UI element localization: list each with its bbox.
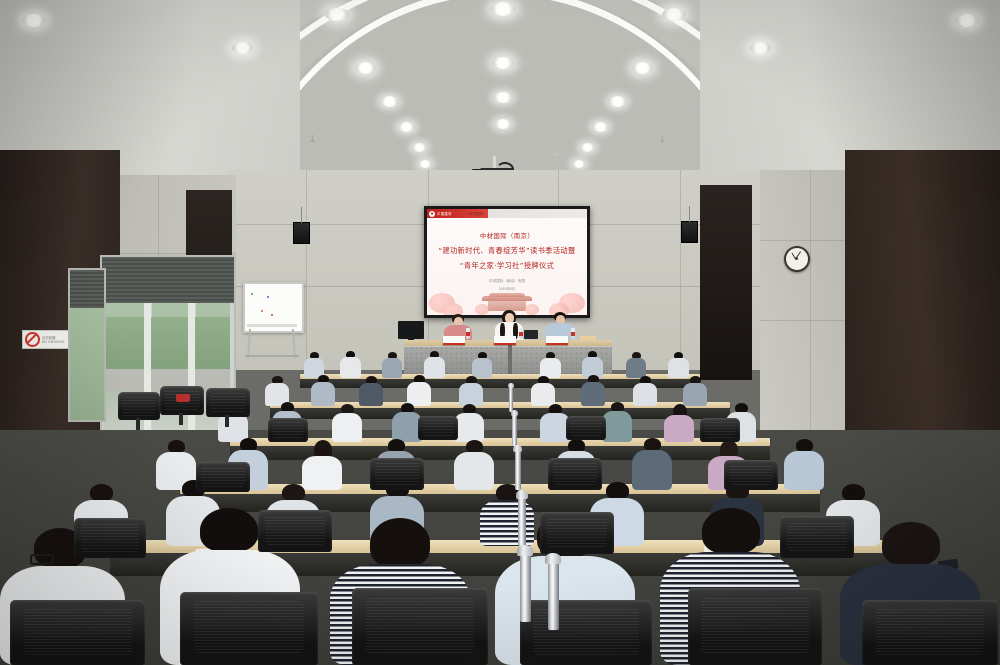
spare-chair-1[interactable] <box>118 392 160 428</box>
chair-row-3-d[interactable] <box>700 418 740 442</box>
chair-row-5-c[interactable] <box>258 510 332 552</box>
conference-room-photo: EPSON 请勿吸烟 NO SMOKING <box>0 0 1000 665</box>
chair-row-3-c[interactable] <box>566 416 606 440</box>
spare-chair-3[interactable] <box>206 388 250 426</box>
no-smoking-sub: NO SMOKING <box>42 340 65 344</box>
red-object-on-chair <box>176 394 190 402</box>
water-bottle <box>571 328 575 339</box>
smoke-detector-icon <box>552 152 559 156</box>
slide-organization: 中材国际（南京） <box>427 231 587 240</box>
chair-row-4-c[interactable] <box>548 458 602 490</box>
name-placard <box>494 336 516 345</box>
chair-front-2[interactable] <box>180 592 318 665</box>
chair-row-5-a[interactable] <box>74 518 146 558</box>
whiteboard[interactable] <box>243 282 304 333</box>
stanchion-top-5 <box>517 545 533 556</box>
spare-chair-2[interactable] <box>160 386 204 424</box>
wall-speaker-right <box>681 221 698 243</box>
brand-logo-icon: ✹ <box>429 211 435 217</box>
laptop <box>524 330 538 339</box>
no-smoking-icon <box>25 332 40 347</box>
chair-row-4-d[interactable] <box>724 460 778 490</box>
slide-content: ✹ 中国建材 中材国际 中材国际（南京） “建功新时代、青春绽芳华”读书季活动暨… <box>427 209 587 315</box>
banner-right-text: 中材国际 <box>469 211 484 216</box>
chair-row-4-a[interactable] <box>196 462 250 492</box>
banner-left-text: 中国建材 <box>437 211 452 216</box>
stanchion-top-6 <box>545 553 561 564</box>
stanchion-top-4 <box>516 490 528 499</box>
water-bottle <box>519 328 523 339</box>
slide-subtitle-line: “青年之家·学习社”授牌仪式 <box>427 261 587 271</box>
eyeglasses-icon <box>30 554 54 565</box>
chair-row-4-b[interactable] <box>370 458 424 490</box>
stanchion-post-4[interactable] <box>518 496 526 546</box>
water-bottle <box>466 328 470 339</box>
stanchion-post-1[interactable] <box>509 386 513 412</box>
chair-front-1[interactable] <box>10 600 145 665</box>
stanchion-top-3 <box>513 445 522 452</box>
chair-front-4[interactable] <box>520 600 652 665</box>
stanchion-post-3[interactable] <box>515 450 521 490</box>
wall-speaker-left <box>293 222 310 244</box>
projection-screen: ✹ 中国建材 中材国际 中材国际（南京） “建功新时代、青春绽芳华”读书季活动暨… <box>424 206 590 318</box>
slide-footer-1: 中材国际（南京）有限 <box>427 279 587 284</box>
chair-row-5-b[interactable] <box>540 512 614 554</box>
stanchion-top-2 <box>511 410 518 416</box>
stanchion-top-1 <box>508 383 514 388</box>
stanchion-post-5[interactable] <box>520 552 531 622</box>
chair-front-6[interactable] <box>862 600 998 665</box>
window-left-far <box>68 268 106 422</box>
desk-monitor <box>398 321 424 339</box>
name-placard <box>443 336 465 345</box>
chair-row-3-b[interactable] <box>418 416 458 440</box>
slide-title-line: “建功新时代、青春绽芳华”读书季活动暨 <box>427 246 587 256</box>
stanchion-post-6[interactable] <box>548 560 559 630</box>
stanchion-post-2[interactable] <box>512 414 517 446</box>
chair-front-3[interactable] <box>352 588 488 665</box>
chair-row-3-a[interactable] <box>268 418 308 442</box>
chair-front-5[interactable] <box>688 588 822 665</box>
window-blinds[interactable] <box>102 257 234 303</box>
chair-row-5-d[interactable] <box>780 516 854 558</box>
wall-clock <box>784 246 810 272</box>
paper-stack <box>580 336 596 340</box>
name-placard <box>546 336 568 345</box>
